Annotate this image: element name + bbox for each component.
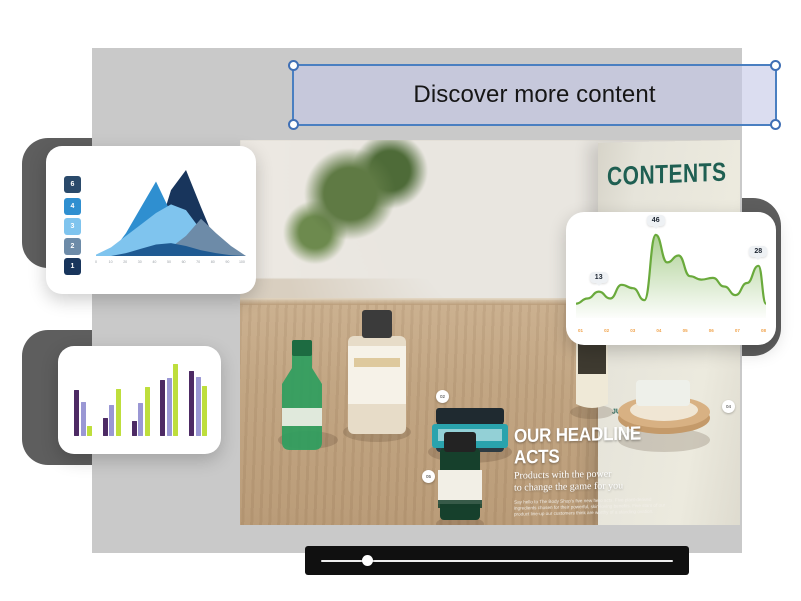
line-chart-x-axis: 0102030405060708 <box>578 328 766 333</box>
axis-tick-label: 0 <box>92 260 100 264</box>
resize-handle-top-left[interactable] <box>288 60 299 71</box>
area-chart-plot <box>96 170 246 256</box>
bar-chart-card[interactable] <box>58 346 221 454</box>
resize-handle-bottom-left[interactable] <box>288 119 299 130</box>
axis-tick-label: 02 <box>604 328 609 333</box>
bar-chart-plot <box>74 362 207 436</box>
area-chart-legend-badge: 3 <box>64 218 81 235</box>
area-chart-card[interactable]: 64321 0102030405060708090100 <box>46 146 256 294</box>
area-chart-x-axis: 0102030405060708090100 <box>92 260 246 264</box>
bar <box>81 402 86 436</box>
bar-group <box>132 387 150 436</box>
magazine-headline: OUR HEADLINE ACTS <box>514 422 674 468</box>
axis-tick-label: 03 <box>630 328 635 333</box>
axis-tick-label: 10 <box>107 260 115 264</box>
axis-tick-label: 04 <box>656 328 661 333</box>
axis-tick-label: 50 <box>165 260 173 264</box>
bar-group <box>74 390 92 436</box>
headline-block: OUR HEADLINE ACTS Products with the powe… <box>514 425 674 519</box>
chart-tooltip: 28 <box>749 246 767 257</box>
bar <box>103 418 108 436</box>
bar-group <box>160 364 178 437</box>
bar <box>167 378 172 436</box>
axis-tick-label: 30 <box>136 260 144 264</box>
bar <box>202 386 207 436</box>
chart-tooltip: 46 <box>647 215 665 226</box>
slider-handle[interactable] <box>362 555 373 566</box>
axis-tick-label: 08 <box>761 328 766 333</box>
area-chart-legend-badge: 1 <box>64 258 81 275</box>
resize-handle-bottom-right[interactable] <box>770 119 781 130</box>
area-chart-legend-badge: 4 <box>64 198 81 215</box>
bar <box>116 389 121 436</box>
bar <box>87 426 92 436</box>
bar <box>138 403 143 436</box>
product-tag[interactable]: 04 <box>722 400 735 413</box>
magazine-subhead-line2: to change the game for you <box>514 480 674 495</box>
axis-tick-label: 70 <box>194 260 202 264</box>
axis-tick-label: 60 <box>180 260 188 264</box>
bar <box>189 371 194 436</box>
axis-tick-label: 90 <box>223 260 231 264</box>
axis-tick-label: 40 <box>150 260 158 264</box>
chart-tooltip: 13 <box>590 272 608 283</box>
slider-track[interactable] <box>321 560 673 562</box>
axis-tick-label: 80 <box>209 260 217 264</box>
product-tag[interactable]: 05 <box>422 470 435 483</box>
bar <box>109 405 114 436</box>
resize-handle-top-right[interactable] <box>770 60 781 71</box>
bar <box>132 421 137 436</box>
bar <box>173 364 178 437</box>
bar-group <box>189 371 207 436</box>
axis-tick-label: 100 <box>238 260 246 264</box>
text-overlay-selection[interactable]: Discover more content <box>292 64 777 126</box>
area-chart-legend-badge: 6 <box>64 176 81 193</box>
bar <box>145 387 150 436</box>
axis-tick-label: 20 <box>121 260 129 264</box>
bar <box>196 377 201 436</box>
screenshot-root: CONTENTS SKINCARE 03 Face The Day17 Stic… <box>0 0 801 601</box>
bar-group <box>103 389 121 436</box>
timeline-slider[interactable] <box>305 546 689 575</box>
overlay-text-label[interactable]: Discover more content <box>413 81 655 109</box>
bar <box>74 390 79 436</box>
area-chart-legend-badge: 2 <box>64 238 81 255</box>
bar <box>160 380 165 436</box>
axis-tick-label: 07 <box>735 328 740 333</box>
line-chart-card[interactable]: 134628 0102030405060708 <box>566 212 776 345</box>
axis-tick-label: 05 <box>683 328 688 333</box>
axis-tick-label: 01 <box>578 328 583 333</box>
axis-tick-label: 06 <box>709 328 714 333</box>
magazine-bodycopy: Say hello to The Body Shop's five new he… <box>514 497 674 519</box>
product-tag[interactable]: 02 <box>436 390 449 403</box>
